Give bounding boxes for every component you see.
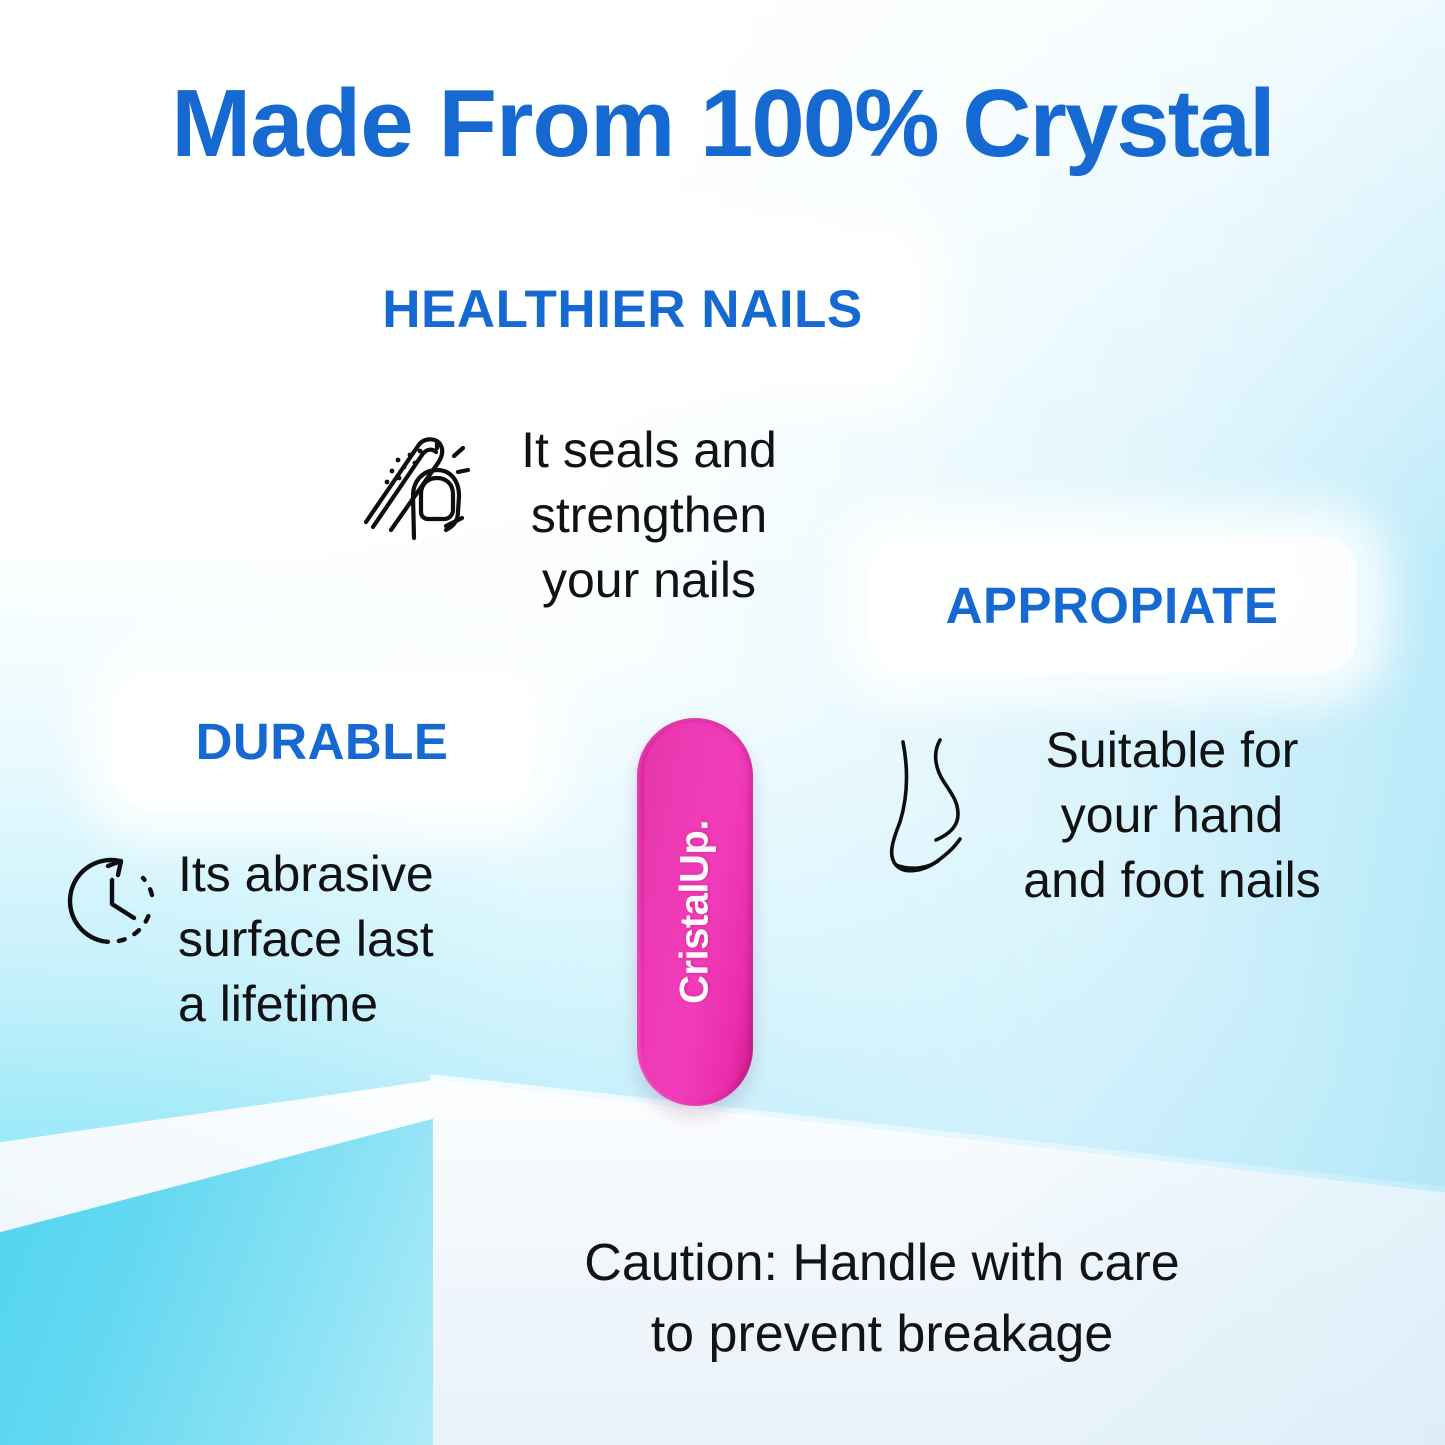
caution-text: Caution: Handle with care to prevent bre… [472, 1228, 1292, 1369]
feature-hand-foot-nails: Suitable for your hand and foot nails [878, 718, 1348, 913]
badge-durable-label: DURABLE [196, 712, 449, 771]
page-title-light: Made From [171, 70, 700, 177]
page-title-bold: 100% Crystal [700, 70, 1274, 177]
feature-durable-lifetime: Its abrasive surface last a lifetime [58, 842, 538, 1037]
feature-hand-foot-nails-text: Suitable for your hand and foot nails [1002, 718, 1342, 913]
badge-healthier-nails: HEALTHIER NAILS [330, 236, 915, 382]
badge-appropiate: APPROPIATE [868, 537, 1356, 673]
pink-crystal-nail-file: CristalUp. [637, 718, 753, 1106]
foot-outline-icon [878, 734, 988, 882]
badge-durable: DURABLE [112, 672, 532, 810]
product-infographic: Made From 100% Crystal HEALTHIER NAILS A… [0, 0, 1445, 1445]
badge-healthier-nails-label: HEALTHIER NAILS [382, 279, 863, 340]
nail-file-finger-icon [358, 426, 470, 538]
product-logo-text: CristalUp. [673, 820, 718, 1004]
clock-arrow-icon [58, 848, 166, 956]
feature-seals-strengthen-text: It seals and strengthen your nails [484, 418, 814, 613]
feature-seals-strengthen: It seals and strengthen your nails [358, 418, 828, 613]
feature-durable-lifetime-text: Its abrasive surface last a lifetime [178, 842, 518, 1037]
page-title: Made From 100% Crystal [0, 76, 1445, 172]
badge-appropiate-label: APPROPIATE [946, 576, 1279, 635]
